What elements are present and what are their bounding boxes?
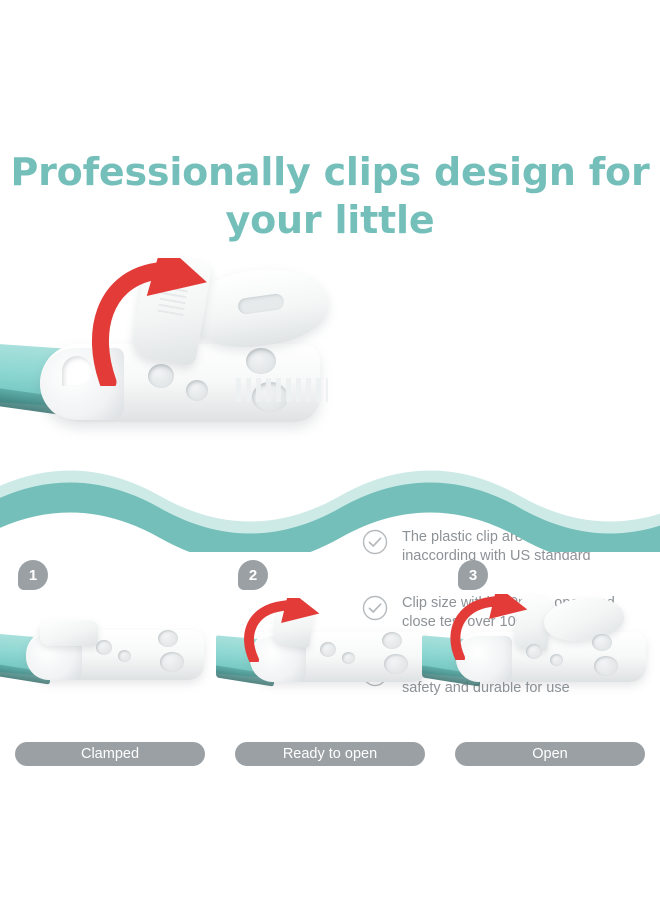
step-number: 1 (29, 567, 37, 584)
steps-section: 1 Clamped 2 (0, 560, 660, 775)
step-number: 3 (469, 567, 477, 584)
step-product-photo (440, 600, 660, 720)
step-product-photo (0, 600, 220, 720)
clip-hole (118, 650, 131, 662)
red-curved-arrow (238, 598, 332, 662)
step-label: Open (532, 746, 567, 762)
step-number-badge: 1 (18, 560, 48, 590)
title-line-1: Professionally clips design for (10, 150, 649, 194)
clip-hole (384, 654, 408, 674)
step-item: 2 Ready to open (220, 560, 440, 775)
hero-product-photo (0, 252, 352, 464)
product-infographic: Professionally clips design for your lit… (0, 0, 660, 904)
red-curved-arrow (444, 594, 542, 660)
clip-hole (158, 630, 178, 647)
clip-hole (550, 654, 563, 666)
hero-section: The plastic clip are specifer design ina… (0, 252, 660, 464)
step-number-badge: 2 (238, 560, 268, 590)
step-item: 3 Open (440, 560, 660, 775)
clip-hole (594, 656, 618, 676)
clip-hole (382, 632, 402, 649)
step-product-photo (220, 600, 440, 720)
title-line-2: your little (0, 196, 660, 244)
step-label-pill: Open (455, 742, 645, 766)
step-number: 2 (249, 567, 257, 584)
step-label: Clamped (81, 746, 139, 762)
clip-hole (96, 640, 112, 655)
step-item: 1 Clamped (0, 560, 220, 775)
step-label-pill: Ready to open (235, 742, 425, 766)
step-number-badge: 3 (458, 560, 488, 590)
clip-hole (592, 634, 612, 651)
red-curved-arrow (78, 258, 268, 386)
clip-hole (160, 652, 184, 672)
page-title: Professionally clips design for your lit… (0, 148, 660, 244)
clip-hole (342, 652, 355, 664)
teal-wave-divider (0, 466, 660, 552)
step-label: Ready to open (283, 746, 377, 762)
clip-lever-closed (40, 620, 98, 646)
step-label-pill: Clamped (15, 742, 205, 766)
